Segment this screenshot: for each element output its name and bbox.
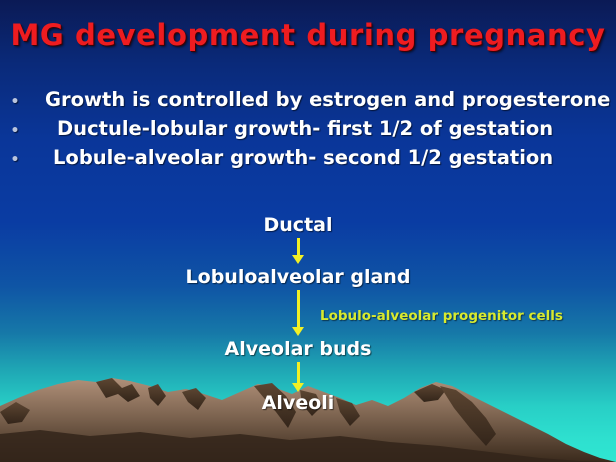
flow-node-alveolar-buds: Alveolar buds	[225, 338, 372, 360]
flow-arrow-down-icon	[291, 238, 305, 264]
arrow-shaft	[297, 238, 300, 256]
flow-node-alveoli: Alveoli	[262, 392, 335, 414]
arrow-shaft	[297, 290, 300, 328]
flow-annotation-progenitor-cells: Lobulo-alveolar progenitor cells	[320, 308, 563, 324]
arrow-shaft	[297, 362, 300, 384]
flow-node-ductal: Ductal	[264, 214, 333, 236]
arrow-head	[292, 255, 304, 264]
development-flow-diagram: Ductal Lobuloalveolar gland Lobulo-alveo…	[0, 0, 616, 462]
flow-arrow-down-icon	[291, 290, 305, 336]
flow-node-lobuloalveolar-gland: Lobuloalveolar gland	[186, 266, 411, 288]
flow-arrow-down-icon	[291, 362, 305, 392]
arrow-head	[292, 327, 304, 336]
slide-canvas: MG development during pregnancy • Growth…	[0, 0, 616, 462]
arrow-head	[292, 383, 304, 392]
